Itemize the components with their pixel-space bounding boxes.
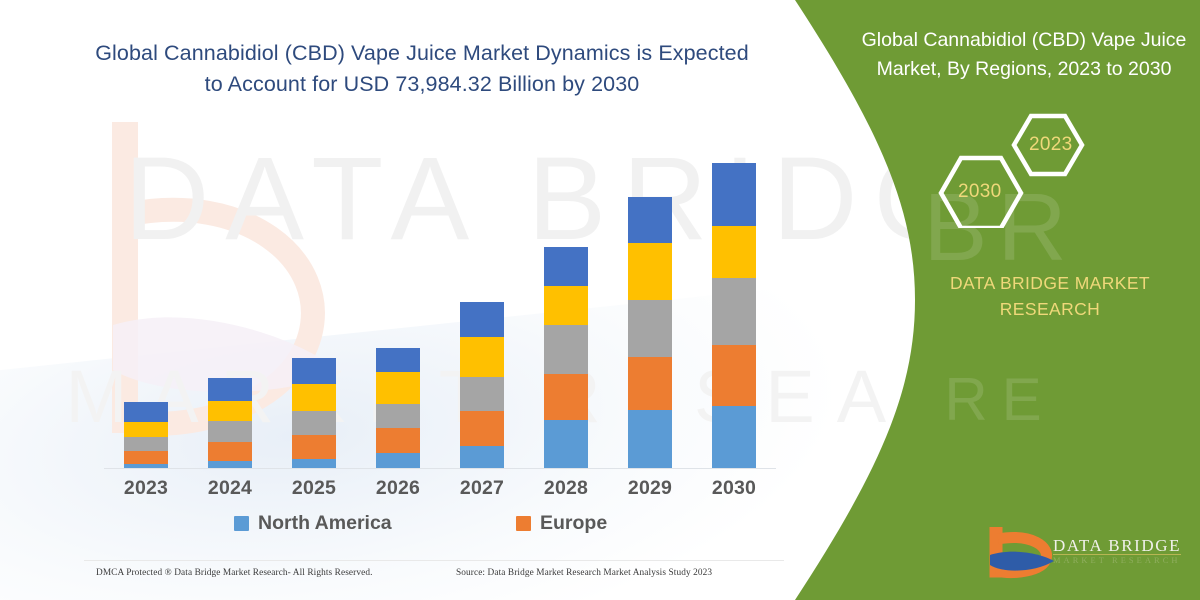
infographic-root: DATA BRIDGE MARKET RESEARCH Global Canna… — [0, 0, 1200, 600]
panel-brand-text: DATA BRIDGE MARKET RESEARCH — [900, 270, 1200, 322]
hexagon-label-2030: 2030 — [958, 181, 1001, 203]
panel-title: Global Cannabidiol (CBD) Vape Juice Mark… — [852, 26, 1196, 84]
svg-text:RE: RE — [944, 366, 1055, 433]
logo-subtitle: MARKET RESEARCH — [1053, 556, 1181, 565]
hexagon-group: 2023 2030 — [925, 112, 1105, 228]
logo-wordmark: DATA BRIDGE — [1053, 536, 1181, 556]
hexagon-label-2023: 2023 — [1029, 134, 1072, 156]
logo-rule — [1053, 554, 1181, 555]
